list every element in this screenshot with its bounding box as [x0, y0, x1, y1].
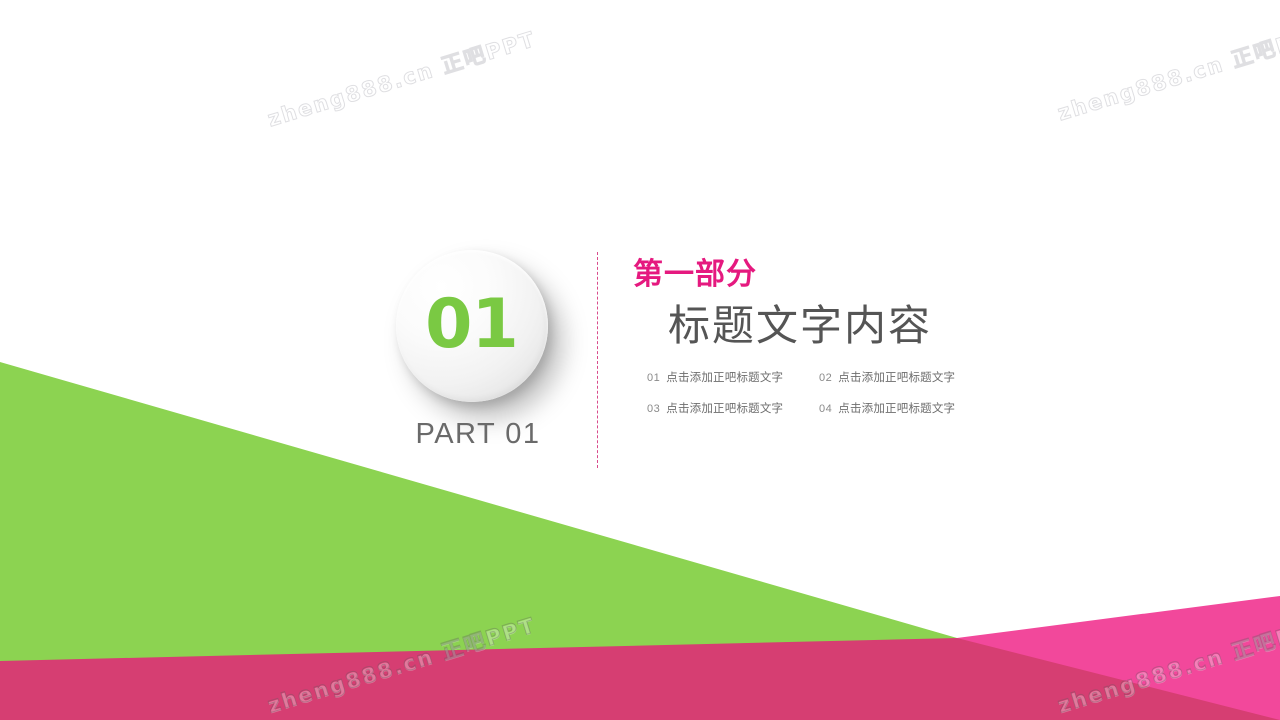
bullet-number: 02	[819, 372, 832, 385]
bullet-label: 点击添加正吧标题文字	[838, 402, 955, 416]
badge-number: 01	[425, 291, 518, 359]
slide-canvas: zheng888.cn 正吧PPT zheng888.cn 正吧PPT zhen…	[0, 0, 1280, 720]
list-item: 03 点击添加正吧标题文字	[647, 402, 797, 416]
part-label: PART 01	[380, 418, 576, 451]
bullet-label: 点击添加正吧标题文字	[666, 402, 783, 416]
heading-column: 第一部分 标题文字内容 01 点击添加正吧标题文字 02 点击添加正吧标题文字 …	[625, 258, 975, 416]
dashed-divider	[597, 252, 598, 468]
page-title: 标题文字内容	[625, 301, 975, 351]
list-item: 02 点击添加正吧标题文字	[819, 371, 969, 385]
section-badge: 01	[396, 250, 556, 410]
bullet-number: 03	[647, 403, 660, 416]
list-item: 01 点击添加正吧标题文字	[647, 371, 797, 385]
section-kicker: 第一部分	[633, 258, 975, 293]
bullet-label: 点击添加正吧标题文字	[666, 371, 783, 385]
badge-circle: 01	[396, 250, 548, 402]
bullet-number: 04	[819, 403, 832, 416]
bullet-label: 点击添加正吧标题文字	[838, 371, 955, 385]
list-item: 04 点击添加正吧标题文字	[819, 402, 969, 416]
bullet-number: 01	[647, 372, 660, 385]
slide-content: 01 PART 01 第一部分 标题文字内容 01 点击添加正吧标题文字 02 …	[0, 0, 1280, 720]
bullet-list: 01 点击添加正吧标题文字 02 点击添加正吧标题文字 03 点击添加正吧标题文…	[647, 371, 975, 416]
